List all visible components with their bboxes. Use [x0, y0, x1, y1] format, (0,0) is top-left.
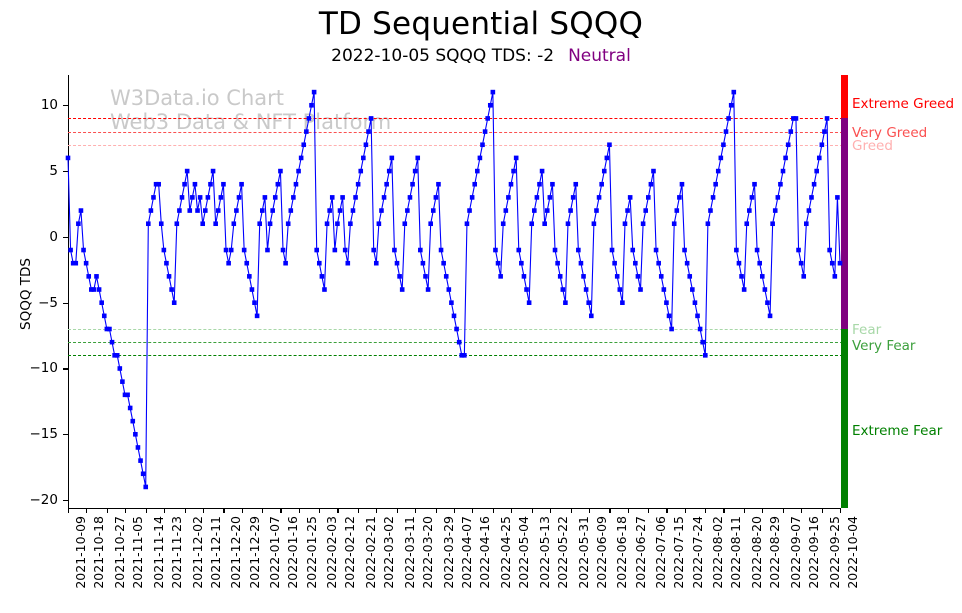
data-point [599, 182, 604, 187]
data-point [550, 182, 555, 187]
data-point [229, 248, 234, 253]
data-point [731, 90, 736, 95]
data-point [164, 261, 169, 266]
data-point [338, 208, 343, 213]
data-point [708, 208, 713, 213]
data-point [669, 327, 674, 332]
data-point [371, 248, 376, 253]
data-point [84, 261, 89, 266]
data-point [757, 261, 762, 266]
data-point [693, 300, 698, 305]
data-point [353, 195, 358, 200]
data-point [742, 287, 747, 292]
data-point [66, 156, 71, 161]
data-point [729, 103, 734, 108]
data-point [768, 314, 773, 319]
data-point [561, 287, 566, 292]
data-point [726, 116, 731, 121]
data-point [706, 221, 711, 226]
data-point [361, 156, 366, 161]
data-point [169, 287, 174, 292]
data-point [356, 182, 361, 187]
data-point [493, 248, 498, 253]
data-point [695, 314, 700, 319]
data-point [291, 195, 296, 200]
data-point [413, 169, 418, 174]
data-point [301, 142, 306, 147]
data-point [175, 221, 180, 226]
data-point [340, 195, 345, 200]
data-point [744, 221, 749, 226]
data-point [250, 287, 255, 292]
data-point [68, 248, 73, 253]
data-point [146, 221, 151, 226]
data-point [516, 248, 521, 253]
data-point [423, 274, 428, 279]
data-point [187, 208, 192, 213]
data-point [488, 103, 493, 108]
data-point [177, 208, 182, 213]
data-point [447, 287, 452, 292]
data-point [299, 156, 304, 161]
data-point [638, 287, 643, 292]
data-point [115, 353, 120, 358]
data-point [107, 327, 112, 332]
data-point [636, 274, 641, 279]
data-point [724, 129, 729, 134]
data-point [348, 221, 353, 226]
data-point [317, 261, 322, 266]
data-point [314, 248, 319, 253]
data-point [656, 261, 661, 266]
data-point [441, 261, 446, 266]
data-point [333, 248, 338, 253]
data-point [457, 340, 462, 345]
data-point [480, 142, 485, 147]
data-point [584, 287, 589, 292]
data-point [185, 169, 190, 174]
data-point [527, 300, 532, 305]
data-point [509, 182, 514, 187]
data-point [478, 156, 483, 161]
data-point [475, 169, 480, 174]
data-point [573, 182, 578, 187]
data-point [651, 169, 656, 174]
data-point [255, 314, 260, 319]
data-point [198, 195, 203, 200]
data-point [755, 248, 760, 253]
data-point [379, 208, 384, 213]
data-point [211, 169, 216, 174]
data-point [76, 221, 81, 226]
data-point [630, 248, 635, 253]
data-point [439, 248, 444, 253]
data-point [159, 221, 164, 226]
data-point [659, 274, 664, 279]
data-point [270, 208, 275, 213]
data-point [470, 195, 475, 200]
data-point [830, 261, 835, 266]
data-point [190, 195, 195, 200]
data-point [120, 379, 125, 384]
data-point [234, 208, 239, 213]
data-point [776, 195, 781, 200]
data-point [719, 156, 724, 161]
data-point [369, 116, 374, 121]
data-point [276, 182, 281, 187]
data-point [535, 195, 540, 200]
data-point [345, 261, 350, 266]
data-point [579, 261, 584, 266]
data-point [664, 300, 669, 305]
data-point [654, 248, 659, 253]
data-point [807, 208, 812, 213]
data-point [130, 419, 135, 424]
data-point [592, 221, 597, 226]
data-point [94, 274, 99, 279]
data-point [392, 248, 397, 253]
data-point [796, 248, 801, 253]
data-point [566, 221, 571, 226]
data-point [685, 261, 690, 266]
data-point [524, 287, 529, 292]
data-point [496, 261, 501, 266]
data-point [540, 169, 545, 174]
data-point [827, 248, 832, 253]
data-point [434, 195, 439, 200]
data-point [138, 458, 143, 463]
data-point [327, 208, 332, 213]
data-point [309, 103, 314, 108]
data-point [73, 261, 78, 266]
data-point [286, 221, 291, 226]
data-point [421, 261, 426, 266]
data-point [594, 208, 599, 213]
data-point [162, 248, 167, 253]
data-point [625, 208, 630, 213]
data-point [765, 300, 770, 305]
data-point [304, 129, 309, 134]
tds-markers [66, 90, 843, 489]
data-point [698, 327, 703, 332]
data-point [794, 116, 799, 121]
data-point [620, 300, 625, 305]
data-point [151, 195, 156, 200]
data-point [410, 182, 415, 187]
data-point [801, 274, 806, 279]
data-point [278, 169, 283, 174]
data-point [366, 129, 371, 134]
data-point [400, 287, 405, 292]
data-point [232, 221, 237, 226]
data-point [444, 274, 449, 279]
data-point [203, 208, 208, 213]
data-point [283, 261, 288, 266]
data-point [125, 393, 130, 398]
data-point [628, 195, 633, 200]
data-point [770, 221, 775, 226]
data-point [615, 274, 620, 279]
data-point [504, 208, 509, 213]
data-point [623, 221, 628, 226]
data-point [325, 221, 330, 226]
data-point [92, 287, 97, 292]
data-point [390, 156, 395, 161]
data-point [618, 287, 623, 292]
data-point [737, 261, 742, 266]
data-point [537, 182, 542, 187]
data-point [804, 221, 809, 226]
data-point [102, 314, 107, 319]
data-point [239, 182, 244, 187]
data-point [633, 261, 638, 266]
data-point [586, 300, 591, 305]
data-point [257, 221, 262, 226]
data-point [281, 248, 286, 253]
data-point [838, 261, 843, 266]
data-point [571, 195, 576, 200]
data-point [555, 261, 560, 266]
data-point [330, 195, 335, 200]
data-point [141, 471, 146, 476]
data-point [418, 248, 423, 253]
data-point [149, 208, 154, 213]
chart-figure: TD Sequential SQQQ 2022-10-05 SQQQ TDS: … [0, 0, 962, 613]
data-point [713, 182, 718, 187]
data-point [506, 195, 511, 200]
data-point [822, 129, 827, 134]
data-point [700, 340, 705, 345]
data-point [783, 156, 788, 161]
data-point [643, 208, 648, 213]
data-point [462, 353, 467, 358]
data-point [182, 182, 187, 187]
data-point [224, 248, 229, 253]
data-point [716, 169, 721, 174]
data-point [312, 90, 317, 95]
data-point [296, 169, 301, 174]
data-point [436, 182, 441, 187]
data-point [646, 195, 651, 200]
data-point [511, 169, 516, 174]
data-point [721, 142, 726, 147]
data-point [472, 182, 477, 187]
data-point [426, 287, 431, 292]
data-point [763, 287, 768, 292]
data-point [788, 129, 793, 134]
data-point [649, 182, 654, 187]
data-point [81, 248, 86, 253]
data-point [247, 274, 252, 279]
data-point [351, 208, 356, 213]
data-point [244, 261, 249, 266]
data-point [136, 445, 141, 450]
data-point [86, 274, 91, 279]
data-point [781, 169, 786, 174]
data-point [589, 314, 594, 319]
data-point [545, 208, 550, 213]
data-point [288, 208, 293, 213]
data-point [641, 221, 646, 226]
data-point [529, 221, 534, 226]
data-point [667, 314, 672, 319]
data-point [195, 208, 200, 213]
data-point [734, 248, 739, 253]
data-point [602, 169, 607, 174]
data-point [431, 208, 436, 213]
data-point [483, 129, 488, 134]
data-point [576, 248, 581, 253]
data-point [133, 432, 138, 437]
data-point [752, 182, 757, 187]
data-point [809, 195, 814, 200]
data-point [263, 195, 268, 200]
data-point [563, 300, 568, 305]
data-point [384, 182, 389, 187]
data-point [703, 353, 708, 358]
data-point [750, 195, 755, 200]
data-point [395, 261, 400, 266]
data-point [498, 274, 503, 279]
data-point [167, 274, 172, 279]
data-point [221, 182, 226, 187]
data-point [128, 406, 133, 411]
data-point [193, 182, 198, 187]
data-point [680, 182, 685, 187]
data-point [548, 195, 553, 200]
data-point [208, 182, 213, 187]
data-point [156, 182, 161, 187]
data-point [532, 208, 537, 213]
data-point [467, 208, 472, 213]
data-point [397, 274, 402, 279]
data-point [773, 208, 778, 213]
data-point [597, 195, 602, 200]
data-point [677, 195, 682, 200]
data-point [610, 248, 615, 253]
data-point [237, 195, 242, 200]
data-point [268, 221, 273, 226]
data-point [817, 156, 822, 161]
data-point [180, 195, 185, 200]
data-point [501, 221, 506, 226]
data-point [553, 248, 558, 253]
data-point [206, 195, 211, 200]
data-point [833, 274, 838, 279]
data-point [320, 274, 325, 279]
data-point [465, 221, 470, 226]
data-point [226, 261, 231, 266]
data-point [110, 340, 115, 345]
data-point [778, 182, 783, 187]
data-point [605, 156, 610, 161]
data-point [820, 142, 825, 147]
data-point [213, 221, 218, 226]
data-point [219, 195, 224, 200]
data-point [747, 208, 752, 213]
data-point [97, 287, 102, 292]
data-point [358, 169, 363, 174]
data-point [491, 90, 496, 95]
data-point [200, 221, 205, 226]
data-point [485, 116, 490, 121]
data-point [814, 169, 819, 174]
data-point [558, 274, 563, 279]
data-point [662, 287, 667, 292]
data-point [449, 300, 454, 305]
data-point [428, 221, 433, 226]
data-point [260, 208, 265, 213]
data-point [408, 195, 413, 200]
data-point [335, 221, 340, 226]
data-point [143, 485, 148, 490]
data-point [382, 195, 387, 200]
data-point [687, 274, 692, 279]
data-point [343, 248, 348, 253]
tds-series-plot [0, 0, 962, 613]
data-point [79, 208, 84, 213]
data-point [265, 248, 270, 253]
data-point [452, 314, 457, 319]
data-point [273, 195, 278, 200]
data-point [607, 142, 612, 147]
data-point [522, 274, 527, 279]
data-point [402, 221, 407, 226]
data-point [786, 142, 791, 147]
data-point [682, 248, 687, 253]
data-point [454, 327, 459, 332]
data-point [581, 274, 586, 279]
data-point [612, 261, 617, 266]
data-point [825, 116, 830, 121]
data-point [242, 248, 247, 253]
data-point [307, 116, 312, 121]
data-point [568, 208, 573, 213]
data-point [252, 300, 257, 305]
data-point [760, 274, 765, 279]
data-point [672, 221, 677, 226]
data-point [405, 208, 410, 213]
data-point [374, 261, 379, 266]
data-point [118, 366, 123, 371]
data-point [364, 142, 369, 147]
data-point [739, 274, 744, 279]
data-point [799, 261, 804, 266]
data-point [690, 287, 695, 292]
data-point [99, 300, 104, 305]
data-point [294, 182, 299, 187]
data-point [835, 195, 840, 200]
data-point [514, 156, 519, 161]
tds-line [68, 92, 840, 487]
data-point [812, 182, 817, 187]
data-point [377, 221, 382, 226]
data-point [172, 300, 177, 305]
data-point [674, 208, 679, 213]
data-point [322, 287, 327, 292]
data-point [415, 156, 420, 161]
data-point [542, 221, 547, 226]
data-point [519, 261, 524, 266]
data-point [387, 169, 392, 174]
data-point [216, 208, 221, 213]
data-point [711, 195, 716, 200]
